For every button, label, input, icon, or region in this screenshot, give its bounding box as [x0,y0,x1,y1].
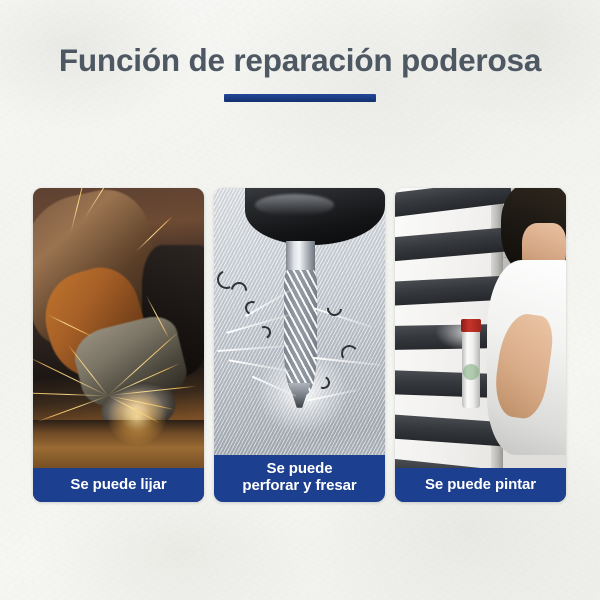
metal-chip-curl [257,324,274,341]
page-title: Función de reparación poderosa [0,0,600,78]
spray-can-cap [461,319,482,332]
drill-bit-flutes [284,270,316,396]
sanding-photo [33,188,204,502]
painting-photo [395,188,566,502]
title-divider [224,94,376,102]
spray-can-label [463,364,478,380]
metal-chip-streak [218,345,290,352]
caption-drilling: Se puede perforar y fresar [214,455,385,502]
caption-line: Se puede pintar [425,477,536,494]
feature-panel-painting[interactable]: Se puede pintar [395,188,566,502]
header: Función de reparación poderosa [0,0,600,102]
feature-panel-drilling[interactable]: Se puede perforar y fresar [214,188,385,502]
caption-line: Se puede [267,461,333,478]
caption-painting: Se puede pintar [395,468,566,502]
caption-line: perforar y fresar [242,478,356,495]
feature-panel-sanding[interactable]: Se puede lijar [33,188,204,502]
caption-sanding: Se puede lijar [33,468,204,502]
caption-line: Se puede lijar [70,477,166,494]
feature-panels: Se puede lijar [33,188,566,502]
spark-streak [37,395,108,422]
promo-banner: Función de reparación poderosa [0,0,600,600]
chuck-highlight [255,194,334,216]
